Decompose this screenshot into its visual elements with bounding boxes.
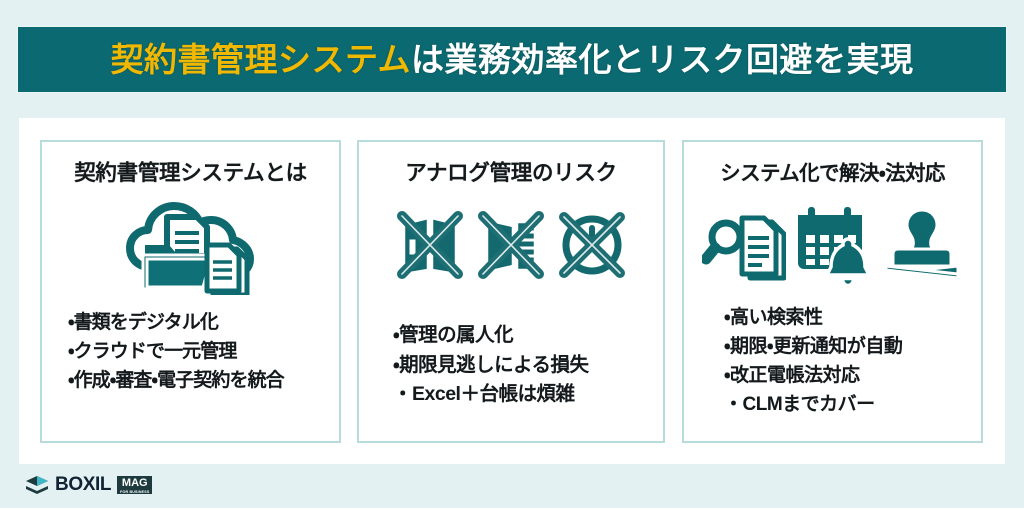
logo-mag-badge: MAG FOR BUSINESS (117, 476, 152, 494)
content-panel: 契約書管理システムとは (19, 118, 1005, 464)
crossed-out-filing-cabinet-icon (475, 208, 547, 282)
card-3-bullet-list: 高い検索性 期限・更新通知が自動 改正電帳法対応 CLMまでカバー (684, 304, 981, 420)
header-banner: 契約書管理システムは業務効率化とリスク回避を実現 (18, 27, 1006, 92)
list-item: 書類をデジタル化 (68, 309, 339, 338)
list-item: 期限・更新通知が自動 (724, 333, 981, 362)
card-1-title: 契約書管理システムとは (74, 156, 307, 187)
list-item: CLMまでカバー (724, 391, 981, 420)
magnifier-document-icon (702, 204, 786, 284)
card-3-icon-row (702, 194, 964, 294)
crossed-out-clock-icon (556, 208, 628, 282)
logo-badge-text: MAG (122, 477, 148, 490)
card-1-icon-row (123, 195, 259, 295)
list-item: 管理の属人化 (393, 321, 663, 351)
card-3-title: システム化で解決・法対応 (720, 156, 945, 186)
card-2-title: アナログ管理のリスク (405, 156, 617, 187)
page-title-highlight: 契約書管理システム (110, 41, 411, 78)
page-title-rest: は業務効率化とリスク回避を実現 (411, 41, 914, 78)
list-item: 作成・審査・電子契約を統合 (68, 367, 339, 396)
rubber-stamp-icon (880, 204, 964, 284)
card-2-bullet-list: 管理の属人化 期限見逃しによる損失 Excel＋台帳は煩雑 (359, 321, 663, 410)
card-1-bullet-list: 書類をデジタル化 クラウドで一元管理 作成・審査・電子契約を統合 (42, 309, 339, 396)
stacked-layers-icon (25, 474, 49, 496)
boxil-mag-logo[interactable]: BOXIL MAG FOR BUSINESS (25, 474, 152, 496)
list-item: クラウドで一元管理 (68, 338, 339, 367)
logo-wordmark: BOXIL (55, 474, 111, 496)
card-contract-system-overview: 契約書管理システムとは (40, 140, 341, 443)
card-2-icon-row (394, 195, 628, 295)
list-item: 改正電帳法対応 (724, 362, 981, 391)
page-title: 契約書管理システムは業務効率化とリスク回避を実現 (110, 43, 913, 76)
list-item: 期限見逃しによる損失 (393, 351, 663, 381)
cloud-folder-documents-icon (123, 195, 259, 295)
list-item: Excel＋台帳は煩雑 (393, 380, 663, 410)
calendar-bell-icon (790, 203, 876, 285)
crossed-out-binder-icon (394, 208, 466, 282)
logo-badge-subtext: FOR BUSINESS (120, 490, 149, 494)
card-analog-management-risks: アナログ管理のリスク (357, 140, 665, 443)
card-system-solution-compliance: システム化で解決・法対応 (682, 140, 983, 443)
list-item: 高い検索性 (724, 304, 981, 333)
